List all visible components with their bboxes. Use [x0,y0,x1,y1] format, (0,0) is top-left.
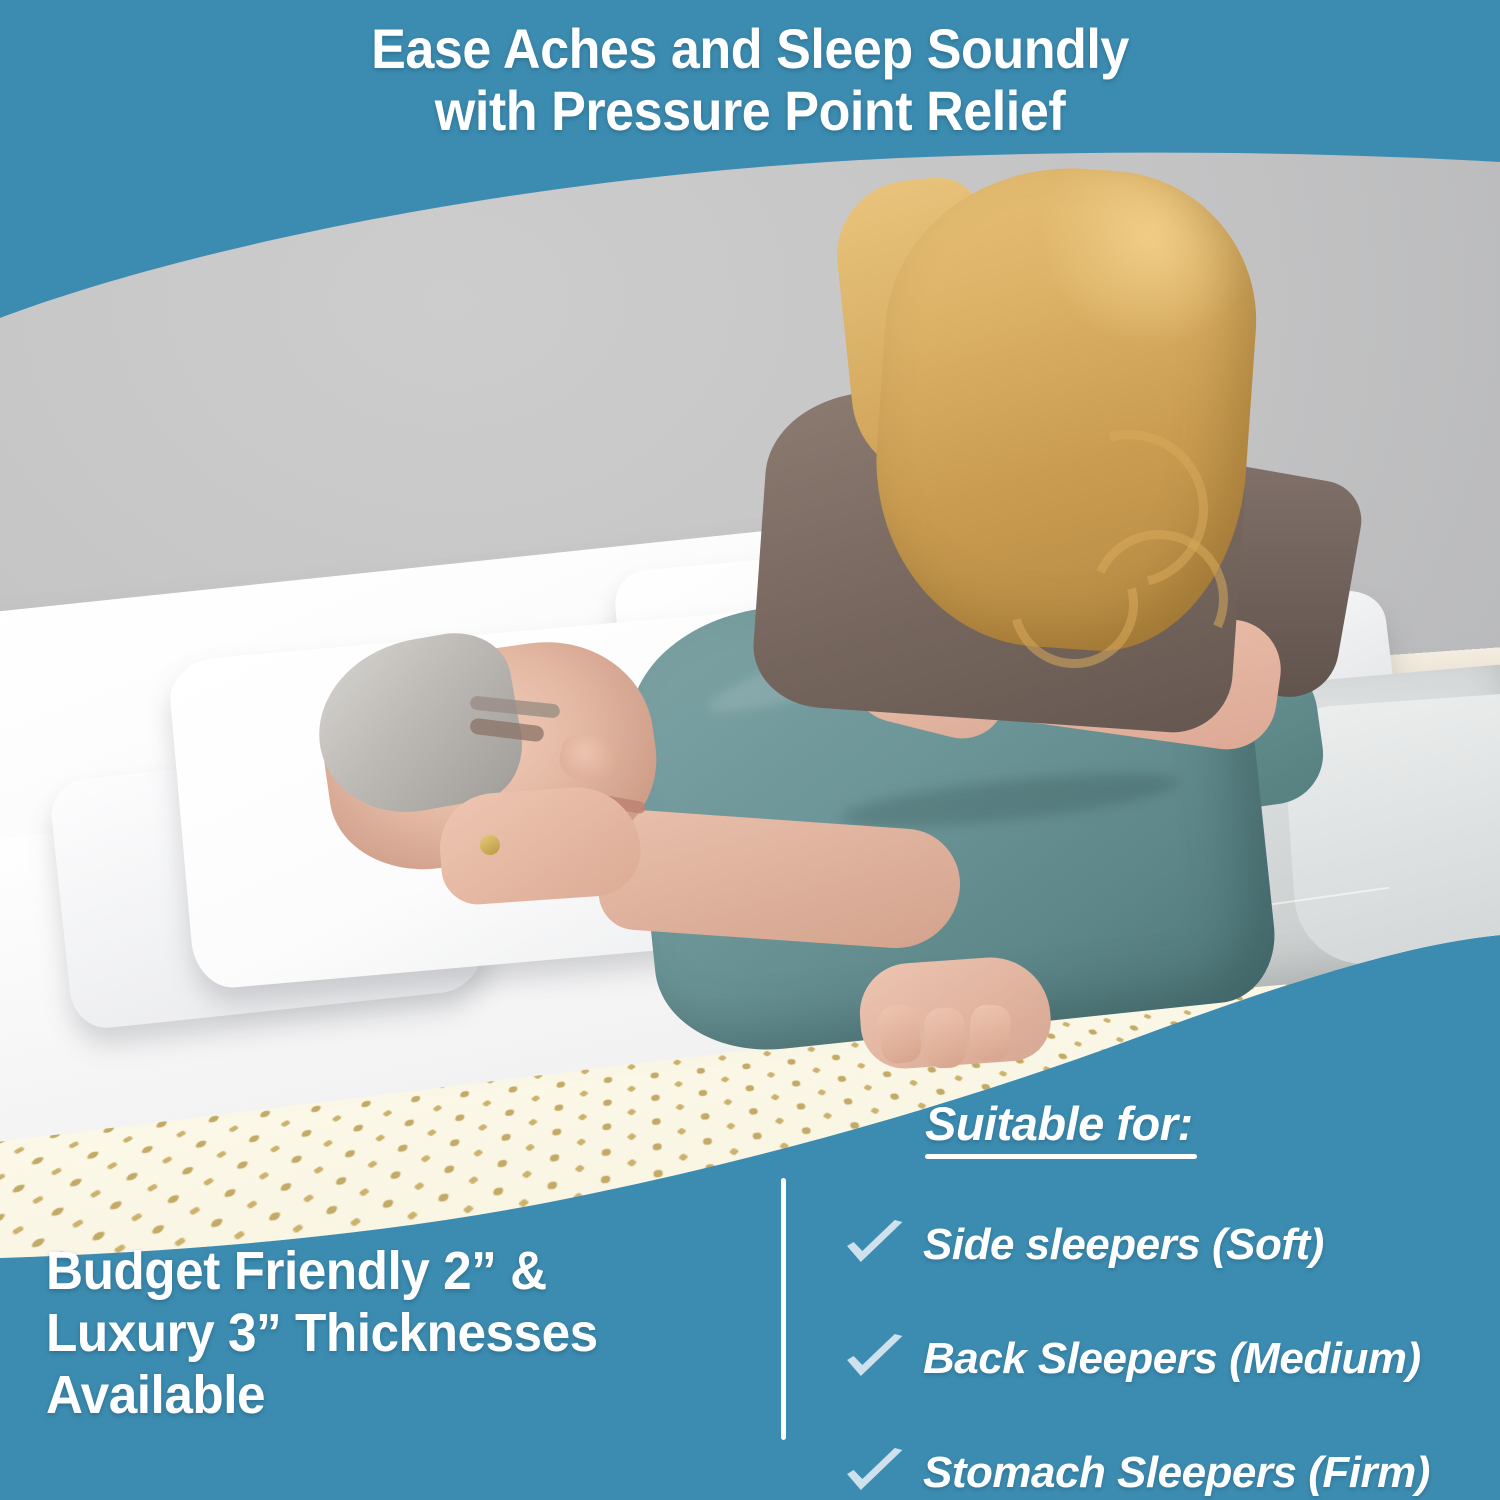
wedding-ring [480,835,500,855]
check-icon [845,1218,909,1272]
page-title: Ease Aches and Sleep Soundly with Pressu… [53,18,1448,142]
headline-line-2: with Pressure Point Relief [53,80,1448,142]
thickness-line-1: Budget Friendly 2” & [46,1240,711,1302]
check-icon [845,1332,909,1386]
man-forearm [596,808,963,953]
man-hand [436,783,643,907]
list-item: Side sleepers (Soft) [845,1218,1485,1272]
list-item: Stomach Sleepers (Firm) [845,1446,1485,1500]
list-item-label: Side sleepers (Soft) [923,1221,1324,1269]
finger [877,1003,923,1065]
suitable-for-heading: Suitable for: [925,1098,1197,1159]
headline-line-1: Ease Aches and Sleep Soundly [53,18,1448,80]
suitable-for-label: Suitable for: [925,1098,1197,1150]
suitable-for-underline [925,1154,1197,1159]
list-item-label: Back Sleepers (Medium) [923,1335,1421,1383]
thickness-line-3: Available [46,1364,711,1426]
finger [969,1004,1012,1062]
sleeper-type-list: Side sleepers (Soft) Back Sleepers (Medi… [845,1218,1485,1500]
thickness-line-2: Luxury 3” Thicknesses [46,1302,711,1364]
vertical-divider [781,1178,786,1440]
list-item: Back Sleepers (Medium) [845,1332,1485,1386]
product-banner: Ease Aches and Sleep Soundly with Pressu… [0,0,1500,1500]
finger [924,1007,966,1068]
list-item-label: Stomach Sleepers (Firm) [923,1449,1430,1497]
check-icon [845,1446,909,1500]
thickness-callout: Budget Friendly 2” & Luxury 3” Thickness… [46,1240,711,1426]
